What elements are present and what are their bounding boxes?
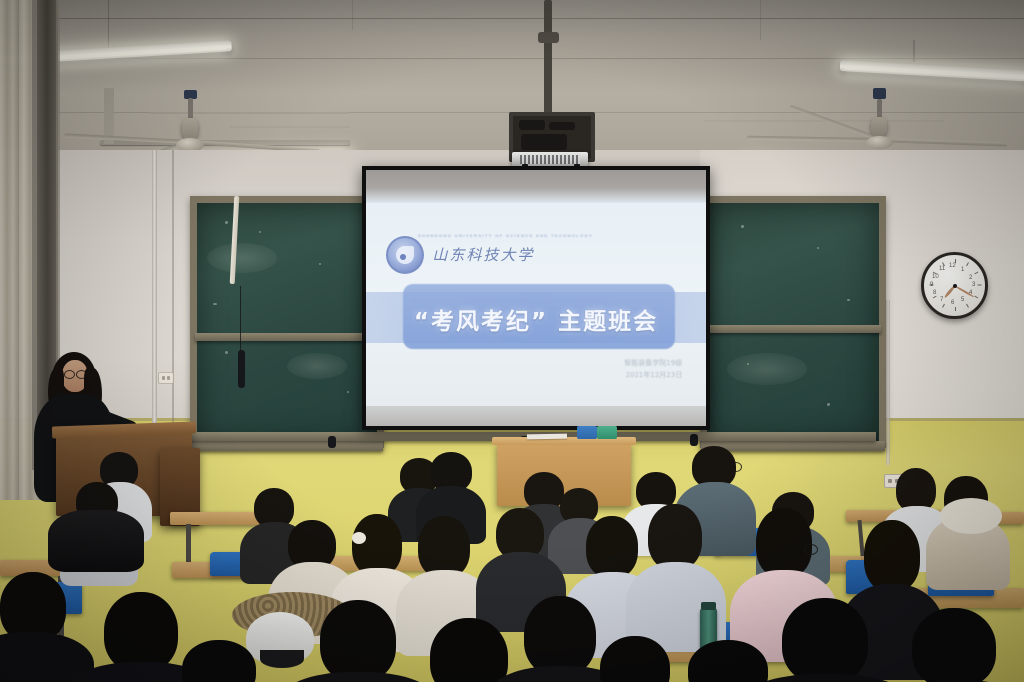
- student-glasses: [804, 544, 818, 555]
- fan-motor: [182, 118, 198, 140]
- slide-surface: 山东科技大学 SHANDONG UNIVERSITY OF SCIENCE AN…: [366, 203, 706, 405]
- student-head: [104, 592, 178, 672]
- wall-conduit: [152, 150, 157, 450]
- clock-numeral-7: 7: [940, 297, 943, 303]
- student-head: [320, 600, 396, 682]
- projector-vent: [520, 155, 580, 164]
- student-head: [524, 596, 596, 676]
- presenter-glasses: [64, 370, 75, 379]
- thermos-cap: [701, 602, 716, 610]
- student-head: [586, 516, 638, 578]
- conduit-pipe: [150, 112, 350, 114]
- projection-screen-frame: 山东科技大学 SHANDONG UNIVERSITY OF SCIENCE AN…: [362, 166, 710, 430]
- slide-logo-group: 山东科技大学: [386, 236, 534, 274]
- clock-center-pin: [953, 284, 957, 288]
- conduit-pipe: [230, 126, 350, 128]
- clock-numeral-5: 5: [961, 297, 964, 303]
- fan-rod: [188, 98, 193, 120]
- pull-cord-grip: [238, 350, 245, 388]
- clock-numeral-3: 3: [972, 282, 975, 288]
- student-head: [782, 598, 868, 682]
- blackboard-hook: [690, 434, 698, 446]
- clock-numeral-2: 2: [969, 275, 972, 281]
- university-seal-logo: [386, 236, 424, 274]
- clock-numeral-6: 6: [951, 300, 954, 306]
- student-hood: [940, 498, 1002, 534]
- black-backpack: [48, 510, 144, 572]
- clock-numeral-12: 12: [949, 263, 956, 269]
- student-head: [352, 514, 402, 576]
- slide-title: “考风考纪” 主题班会: [366, 296, 706, 340]
- student-head: [912, 608, 996, 682]
- green-box: [597, 426, 617, 439]
- clock-numeral-10: 10: [932, 274, 939, 280]
- blackboard-left: [190, 196, 384, 448]
- fan-rod: [877, 99, 882, 119]
- clock-numeral-8: 8: [933, 290, 936, 296]
- student-glasses: [410, 470, 422, 479]
- fan-light-cap: [866, 136, 893, 149]
- hair-clip: [352, 532, 366, 544]
- wall-conduit: [886, 300, 890, 465]
- classroom-photo: 山东科技大学 SHANDONG UNIVERSITY OF SCIENCE AN…: [0, 0, 1024, 682]
- projector-pole-collar: [538, 32, 559, 43]
- wall-outlet: [158, 372, 174, 384]
- student-glasses: [730, 462, 742, 472]
- cap-brim: [260, 650, 304, 668]
- slide-footer-org: 智能装备学院19级: [624, 357, 682, 369]
- fan-switch-box: [873, 88, 886, 99]
- wall-seam: [172, 150, 174, 450]
- student-head: [756, 508, 812, 578]
- student-head: [430, 618, 508, 682]
- university-name-cn: 山东科技大学: [432, 244, 534, 265]
- student-head: [418, 516, 470, 578]
- projector-pole: [544, 0, 552, 116]
- blackboard-right: [700, 196, 886, 448]
- student-head: [864, 520, 920, 592]
- slide-footer-date: 2021年12月23日: [624, 369, 682, 381]
- clock-numeral-9: 9: [930, 282, 933, 288]
- blue-box: [577, 426, 597, 439]
- projection-screen: 山东科技大学 SHANDONG UNIVERSITY OF SCIENCE AN…: [366, 170, 706, 426]
- university-name-en: SHANDONG UNIVERSITY OF SCIENCE AND TECHN…: [418, 233, 593, 238]
- wall-clock: 12 1 2 3 4 5 6 7 8 9 10 11: [921, 252, 988, 319]
- paper-sheet-on-desk: [527, 434, 567, 440]
- student-head: [648, 504, 702, 570]
- clock-numeral-11: 11: [939, 266, 945, 272]
- clock-numeral-1: 1: [961, 267, 964, 273]
- light-support-rod: [913, 40, 915, 62]
- slide-footer: 智能装备学院19级 2021年12月23日: [624, 357, 682, 382]
- blackboard-hook: [328, 436, 336, 448]
